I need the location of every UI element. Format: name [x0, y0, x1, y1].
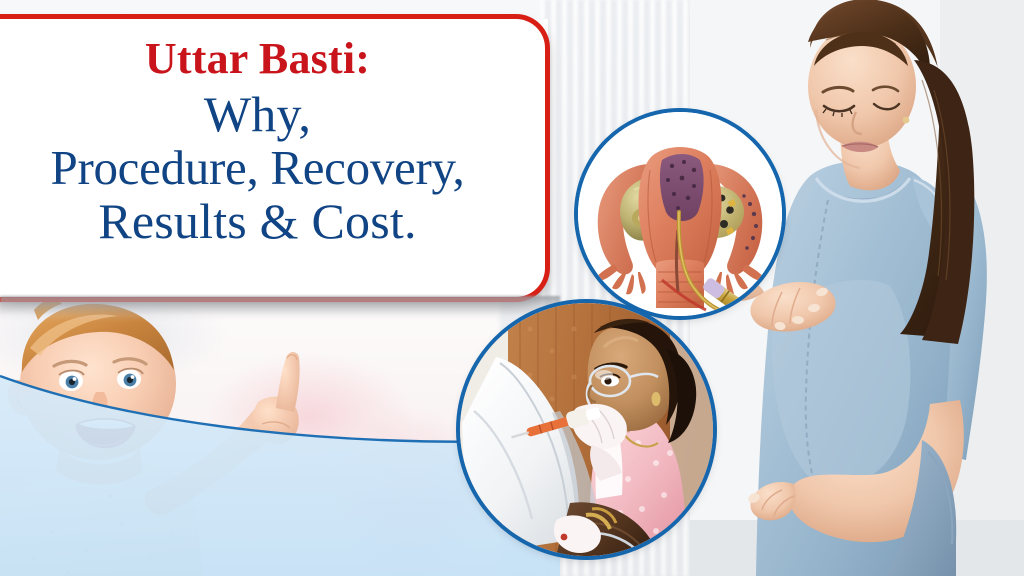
uterus-anatomy-illustration	[578, 112, 782, 316]
title-line-results-cost: Results & Cost.	[6, 196, 509, 247]
uterus-anatomy-inner	[578, 112, 782, 316]
title-line-procedure-recovery: Procedure, Recovery,	[6, 143, 509, 193]
doctor-procedure-inner	[460, 303, 713, 556]
doctor-performing-procedure-photo	[460, 303, 713, 556]
title-line-primary: Uttar Basti:	[6, 37, 509, 82]
title-card: Uttar Basti: Why, Procedure, Recovery, R…	[0, 14, 550, 302]
banner-canvas: Uttar Basti: Why, Procedure, Recovery, R…	[0, 0, 1024, 576]
title-line-why: Why,	[6, 89, 509, 140]
